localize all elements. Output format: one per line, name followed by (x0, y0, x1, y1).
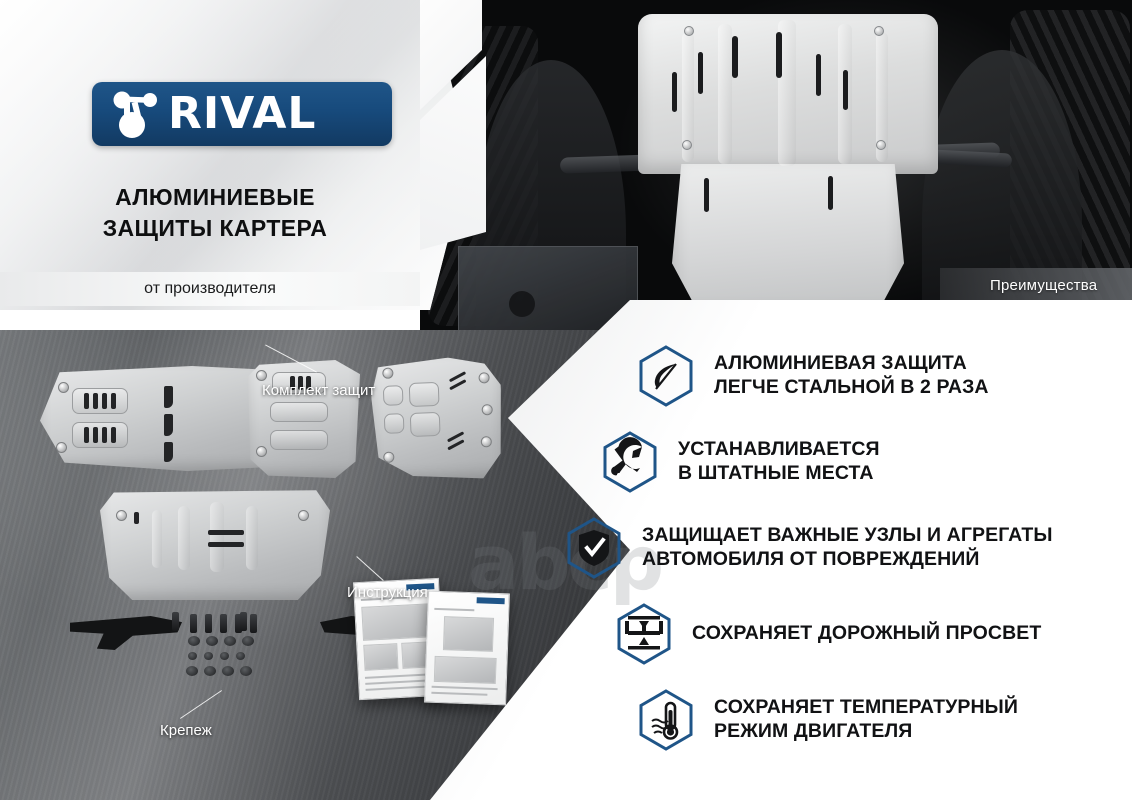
shield-check-icon (564, 516, 624, 580)
subtitle-text: от производителя (144, 280, 276, 298)
washer (204, 652, 213, 660)
washer (242, 636, 254, 646)
sheet-line (365, 680, 425, 685)
vent-slot (828, 176, 833, 210)
sheet-line (432, 686, 498, 690)
vent-slot (704, 178, 709, 212)
washer (240, 666, 252, 676)
feature-text: АЛЮМИНИЕВАЯ ЗАЩИТА ЛЕГЧЕ СТАЛЬНОЙ В 2 РА… (714, 352, 989, 400)
title-line-2: ЗАЩИТЫ КАРТЕРА (0, 213, 430, 244)
feature-line-1: АЛЮМИНИЕВАЯ ЗАЩИТА (714, 352, 967, 374)
washer (224, 636, 236, 646)
sheet-line (434, 608, 474, 611)
wrench-icon (600, 430, 660, 494)
feature-text: СОХРАНЯЕТ ТЕМПЕРАТУРНЫЙ РЕЖИМ ДВИГАТЕЛЯ (714, 696, 1018, 744)
feature-line-2: РЕЖИМ ДВИГАТЕЛЯ (714, 720, 1018, 744)
callout-instruction: Инструкция (347, 584, 428, 601)
callout-kit: Комплект защит (262, 382, 375, 399)
bolt (256, 446, 267, 457)
vent-slot (164, 386, 173, 408)
vent-slot (843, 70, 848, 110)
sheet-figure (363, 643, 398, 671)
bolt (56, 442, 67, 453)
washer (188, 652, 197, 660)
bolt-pin (240, 612, 247, 631)
bolt-pin (190, 614, 197, 633)
bolt-pin (250, 614, 257, 633)
pad (409, 382, 440, 407)
vent-slot (672, 72, 677, 112)
molecule-icon (108, 87, 166, 141)
vent-slot (776, 32, 782, 78)
pad (410, 412, 441, 437)
feature-line-2: В ШТАТНЫЕ МЕСТА (678, 462, 880, 486)
feature-item-factory-mounts: УСТАНАВЛИВАЕТСЯ В ШТАТНЫЕ МЕСТА (600, 430, 1116, 494)
feature-line-1: ЗАЩИЩАЕТ ВАЖНЫЕ УЗЛЫ И АГРЕГАТЫ (642, 524, 1053, 546)
vent-slot (102, 427, 107, 443)
bolt (876, 140, 886, 150)
feature-item-aluminium-light: АЛЮМИНИЕВАЯ ЗАЩИТА ЛЕГЧЕ СТАЛЬНОЙ В 2 РА… (636, 344, 1116, 408)
subtitle-bar: от производителя (0, 272, 420, 306)
skid-plate-3 (370, 356, 504, 482)
bolt (58, 382, 69, 393)
features-list: АЛЮМИНИЕВАЯ ЗАЩИТА ЛЕГЧЕ СТАЛЬНОЙ В 2 РА… (636, 344, 1116, 774)
feature-item-engine-temperature: СОХРАНЯЕТ ТЕМПЕРАТУРНЫЙ РЕЖИМ ДВИГАТЕЛЯ (636, 688, 1116, 752)
advantages-tag: Преимущества (940, 268, 1132, 302)
vent-slot (111, 393, 116, 409)
underbody-photo: Преимущества (420, 0, 1132, 330)
washer (204, 666, 216, 676)
thermometer-icon (636, 688, 696, 752)
advantages-tag-label: Преимущества (940, 277, 1097, 294)
washer (188, 636, 200, 646)
leaf-icon (636, 344, 696, 408)
feature-line-1: СОХРАНЯЕТ ТЕМПЕРАТУРНЫЙ (714, 696, 1018, 718)
bolt (684, 26, 694, 36)
pad (383, 385, 404, 406)
vent-slot (164, 414, 173, 436)
bolt (874, 26, 884, 36)
feature-line-2: ЛЕГЧЕ СТАЛЬНОЙ В 2 РАЗА (714, 376, 989, 400)
bolt-pin (172, 612, 179, 631)
feature-line-1: СОХРАНЯЕТ ДОРОЖНЫЙ ПРОСВЕТ (692, 622, 1041, 644)
pad (270, 402, 328, 422)
washer (236, 652, 245, 660)
feature-text: ЗАЩИЩАЕТ ВАЖНЫЕ УЗЛЫ И АГРЕГАТЫ АВТОМОБИ… (642, 524, 1053, 572)
fuel-tank (458, 246, 638, 330)
sheet-line (366, 685, 432, 690)
pad (384, 413, 405, 434)
page-title: АЛЮМИНИЕВЫЕ ЗАЩИТЫ КАРТЕРА (0, 182, 430, 243)
title-line-1: АЛЮМИНИЕВЫЕ (0, 182, 430, 213)
washer (186, 666, 198, 676)
rib (210, 502, 224, 572)
vent-slot (732, 36, 738, 78)
pad (72, 388, 128, 414)
promo-banner: Преимущества (0, 0, 1132, 800)
rib (718, 24, 732, 164)
vent-slot (698, 52, 703, 94)
feature-text: УСТАНАВЛИВАЕТСЯ В ШТАТНЫЕ МЕСТА (678, 438, 880, 486)
sheet-line (431, 692, 487, 695)
logo-text: RIVAL (168, 92, 316, 136)
bolt (298, 510, 309, 521)
instruction-sheet-2 (424, 591, 510, 706)
vent-slot (134, 512, 139, 524)
feature-item-protects-components: ЗАЩИЩАЕТ ВАЖНЫЕ УЗЛЫ И АГРЕГАТЫ АВТОМОБИ… (564, 516, 1116, 580)
feature-line-1: УСТАНАВЛИВАЕТСЯ (678, 438, 880, 460)
bolt-pin (205, 614, 212, 633)
washer (206, 636, 218, 646)
bolt (682, 140, 692, 150)
vent-slot (84, 427, 89, 443)
vent-slot (93, 393, 98, 409)
feature-text: СОХРАНЯЕТ ДОРОЖНЫЙ ПРОСВЕТ (692, 622, 1041, 646)
sheet-figure (434, 656, 497, 684)
installed-skid-plate (638, 14, 938, 314)
pad (270, 430, 328, 450)
rib (178, 506, 190, 570)
feature-line-2: АВТОМОБИЛЯ ОТ ПОВРЕЖДЕНИЙ (642, 548, 1053, 572)
vent-slot (208, 530, 244, 535)
sheet-figure (443, 616, 494, 652)
feature-item-ground-clearance: СОХРАНЯЕТ ДОРОЖНЫЙ ПРОСВЕТ (614, 602, 1116, 666)
bolt (256, 370, 267, 381)
rib (246, 506, 258, 570)
washer (220, 652, 229, 660)
vent-slot (102, 393, 107, 409)
vent-slot (111, 427, 116, 443)
bolt (116, 510, 127, 521)
vent-slot (93, 427, 98, 443)
bolt-pin (220, 614, 227, 633)
vent-slot (164, 442, 173, 462)
skid-plate-2 (248, 360, 360, 478)
pad (72, 422, 128, 448)
clearance-arrows-icon (614, 602, 674, 666)
sheet-figure (361, 603, 435, 641)
vent-slot (84, 393, 89, 409)
vent-slot (816, 54, 821, 96)
skid-plate-main (100, 488, 330, 600)
callout-fasteners: Крепеж (160, 722, 212, 739)
rival-logo: RIVAL (92, 82, 392, 146)
vent-slot (208, 542, 244, 547)
washer (222, 666, 234, 676)
rib (152, 510, 162, 568)
